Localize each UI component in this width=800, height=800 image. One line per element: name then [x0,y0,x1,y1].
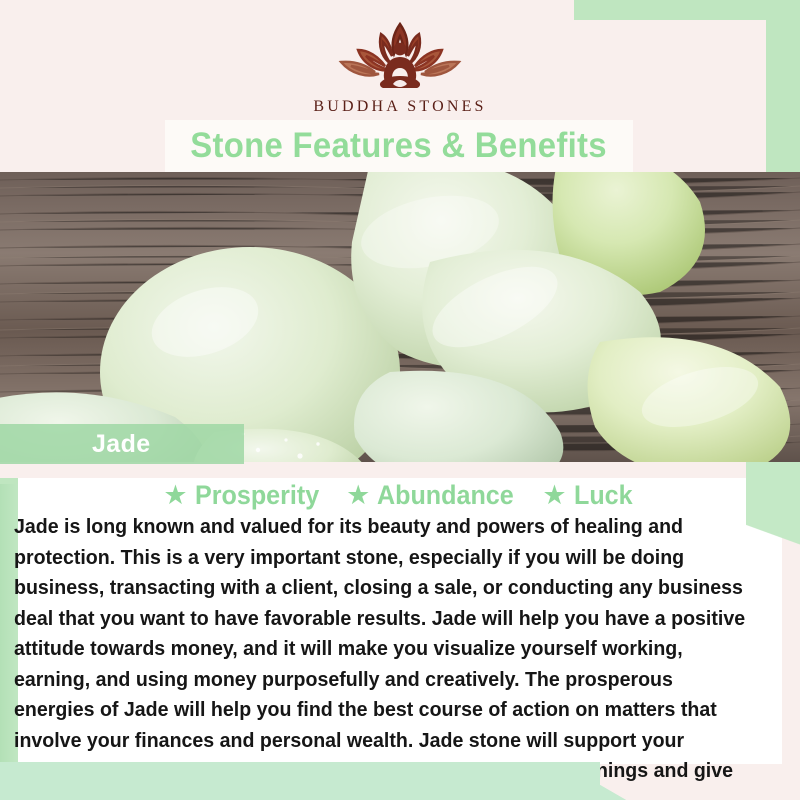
keyword-luck: ★ Luck [542,482,636,509]
star-icon: ★ [346,482,370,509]
keyword-label: Luck [574,482,633,509]
decor-right-triangle [746,462,800,584]
star-icon: ★ [163,482,187,509]
page-title: Stone Features & Benefits [191,126,608,166]
keyword-prosperity: ★ Prosperity [163,482,328,509]
stone-photo-image [0,172,800,462]
decor-bottom-band [0,762,600,800]
decor-bottom-triangle [556,762,626,800]
brand-name: BUDDHA STONES [0,98,800,116]
title-banner: Stone Features & Benefits [165,120,633,172]
keyword-label: Prosperity [195,482,319,509]
divider-strip [0,462,800,478]
keyword-abundance: ★ Abundance [346,482,524,509]
lotus-meditation-icon [325,18,475,96]
stone-name: Jade [0,432,151,457]
stone-name-bar: Jade [0,424,244,464]
star-icon: ★ [542,482,566,509]
stone-photo [0,172,800,462]
keyword-row: ★ Prosperity ★ Abundance ★ Luck [18,478,782,512]
brand-logo: BUDDHA STONES [0,18,800,116]
stone-description: Jade is long known and valued for its be… [14,512,755,800]
keyword-label: Abundance [377,482,514,509]
infographic-page: BUDDHA STONES Stone Features & Benefits [0,0,800,800]
